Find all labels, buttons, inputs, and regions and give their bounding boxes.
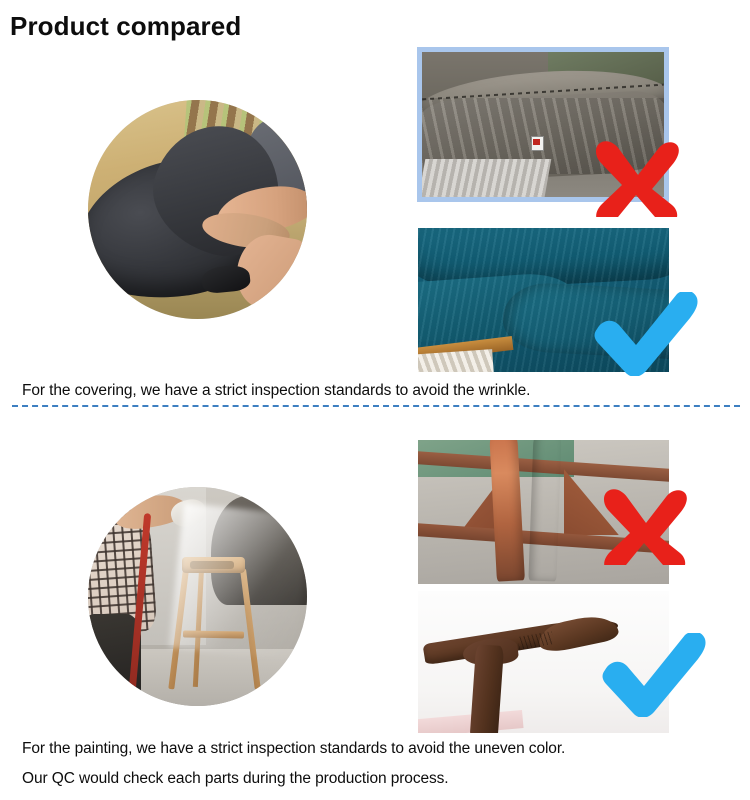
fabric-tag (531, 136, 544, 151)
wrinkled-grey-velvet-photo (417, 47, 669, 202)
page-title: Product compared (10, 11, 241, 42)
smooth-teal-velvet-photo (418, 228, 669, 372)
painting-caption-secondary: Our QC would check each parts during the… (22, 770, 449, 788)
photo-content (418, 440, 669, 584)
photo-content (88, 100, 307, 319)
upholstery-fitting-photo (88, 100, 307, 319)
photo-content (418, 228, 669, 372)
paint-spray-mist (168, 503, 307, 660)
even-color-walnut-leg-photo (418, 591, 669, 733)
uneven-color-wood-frame-photo (418, 440, 669, 584)
photo-content (422, 52, 664, 197)
photo-content (418, 591, 669, 733)
photo-content (88, 487, 307, 706)
covering-caption: For the covering, we have a strict inspe… (22, 382, 530, 400)
spray-painting-photo (88, 487, 307, 706)
white-backdrop (418, 591, 669, 733)
section-divider (12, 405, 740, 407)
table-leg-right (528, 440, 561, 582)
painting-caption-primary: For the painting, we have a strict inspe… (22, 740, 565, 758)
radiator (422, 159, 551, 197)
